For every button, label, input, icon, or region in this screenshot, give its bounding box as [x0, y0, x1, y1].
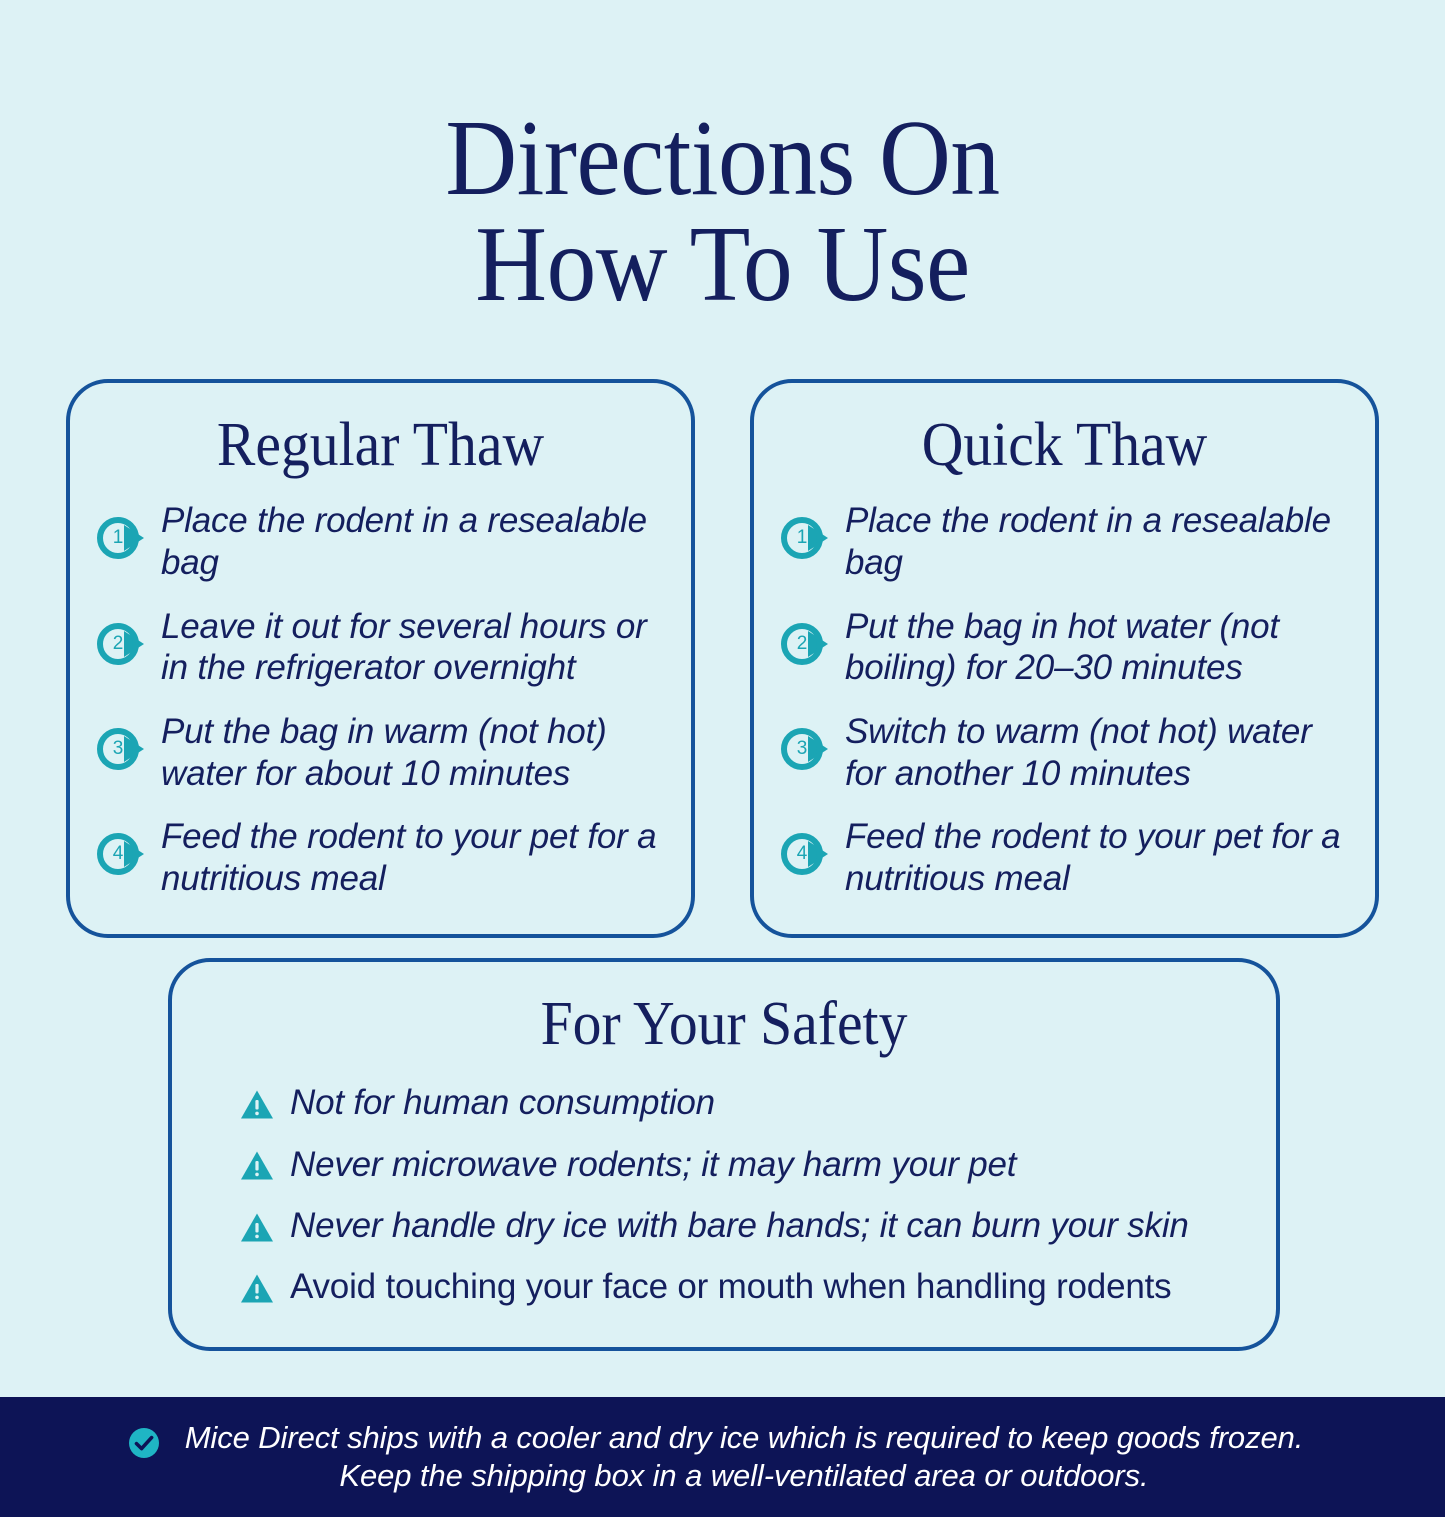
step-text: Put the bag in hot water (not boiling) f…: [845, 606, 1349, 689]
thaw-cards-row: Regular Thaw 1 Place the rodent in a res…: [66, 379, 1379, 937]
step-marker-pin-icon: 4: [780, 828, 836, 880]
step-marker-pin-icon: 3: [96, 723, 152, 775]
check-circle-icon: [128, 1427, 160, 1459]
warning-triangle-icon: [240, 1089, 274, 1120]
step-item: 4 Feed the rodent to your pet for a nutr…: [780, 816, 1349, 899]
step-item: 2 Leave it out for several hours or in t…: [96, 606, 665, 689]
step-item: 1 Place the rodent in a resealable bag: [96, 500, 665, 583]
step-number: 4: [96, 828, 140, 880]
warning-triangle-icon: [240, 1150, 274, 1181]
safety-list: Not for human consumption Never microwav…: [206, 1083, 1242, 1307]
step-marker-pin-icon: 1: [96, 512, 152, 564]
step-text: Place the rodent in a resealable bag: [161, 500, 665, 583]
safety-item: Never handle dry ice with bare hands; it…: [240, 1206, 1242, 1246]
footer-text: Mice Direct ships with a cooler and dry …: [171, 1419, 1318, 1496]
step-marker-pin-icon: 2: [780, 618, 836, 670]
card-title-regular-thaw: Regular Thaw: [116, 413, 645, 478]
steps-list-regular-thaw: 1 Place the rodent in a resealable bag 2…: [96, 500, 665, 899]
step-item: 3 Put the bag in warm (not hot) water fo…: [96, 711, 665, 794]
footer-inner: Mice Direct ships with a cooler and dry …: [108, 1419, 1338, 1496]
step-item: 2 Put the bag in hot water (not boiling)…: [780, 606, 1349, 689]
card-quick-thaw: Quick Thaw 1 Place the rodent in a resea…: [750, 379, 1379, 937]
page-title: Directions On How To Use: [58, 72, 1387, 318]
step-number: 3: [96, 723, 140, 775]
step-number: 2: [96, 618, 140, 670]
step-number: 3: [780, 723, 824, 775]
footer-shipping-notice: Mice Direct ships with a cooler and dry …: [0, 1397, 1445, 1517]
step-text: Put the bag in warm (not hot) water for …: [161, 711, 665, 794]
step-item: 3 Switch to warm (not hot) water for ano…: [780, 711, 1349, 794]
step-text: Leave it out for several hours or in the…: [161, 606, 665, 689]
warning-triangle-icon: [240, 1273, 274, 1304]
step-number: 2: [780, 618, 824, 670]
card-title-for-your-safety: For Your Safety: [242, 992, 1205, 1057]
safety-item: Avoid touching your face or mouth when h…: [240, 1267, 1242, 1307]
safety-item-text: Avoid touching your face or mouth when h…: [290, 1267, 1171, 1307]
step-item: 1 Place the rodent in a resealable bag: [780, 500, 1349, 583]
safety-item-text: Never microwave rodents; it may harm you…: [290, 1145, 1016, 1185]
step-marker-pin-icon: 2: [96, 618, 152, 670]
step-text: Switch to warm (not hot) water for anoth…: [845, 711, 1349, 794]
safety-item: Never microwave rodents; it may harm you…: [240, 1145, 1242, 1185]
step-number: 4: [780, 828, 824, 880]
safety-item: Not for human consumption: [240, 1083, 1242, 1123]
step-item: 4 Feed the rodent to your pet for a nutr…: [96, 816, 665, 899]
safety-item-text: Not for human consumption: [290, 1083, 715, 1123]
step-marker-pin-icon: 4: [96, 828, 152, 880]
card-title-quick-thaw: Quick Thaw: [800, 413, 1329, 478]
step-text: Place the rodent in a resealable bag: [845, 500, 1349, 583]
card-regular-thaw: Regular Thaw 1 Place the rodent in a res…: [66, 379, 695, 937]
steps-list-quick-thaw: 1 Place the rodent in a resealable bag 2…: [780, 500, 1349, 899]
card-for-your-safety: For Your Safety Not for human consumptio…: [168, 958, 1280, 1351]
safety-item-text: Never handle dry ice with bare hands; it…: [290, 1206, 1189, 1246]
warning-triangle-icon: [240, 1212, 274, 1243]
step-text: Feed the rodent to your pet for a nutrit…: [845, 816, 1349, 899]
step-number: 1: [96, 512, 140, 564]
step-marker-pin-icon: 1: [780, 512, 836, 564]
page-title-line-2: How To Use: [58, 212, 1387, 318]
step-text: Feed the rodent to your pet for a nutrit…: [161, 816, 665, 899]
page-title-line-1: Directions On: [58, 106, 1387, 212]
step-marker-pin-icon: 3: [780, 723, 836, 775]
step-number: 1: [780, 512, 824, 564]
